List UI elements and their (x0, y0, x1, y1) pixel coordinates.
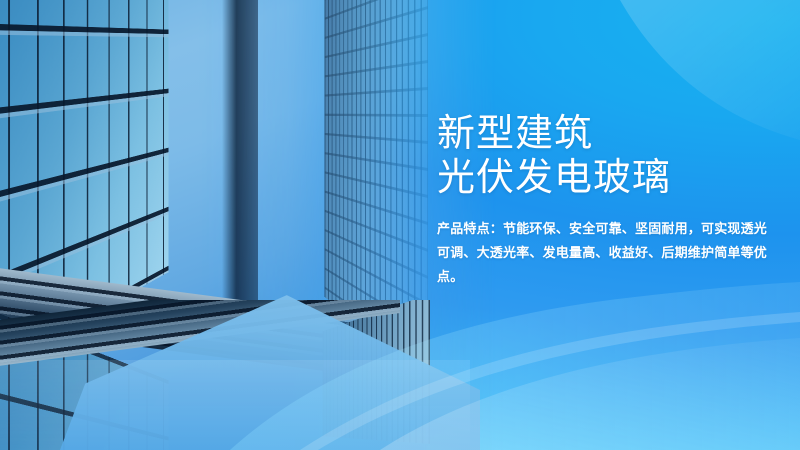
headline-line-1: 新型建筑 (437, 113, 593, 155)
product-banner: 新型建筑 光伏发电玻璃 产品特点：节能环保、安全可靠、坚固耐用，可实现透光可调、… (0, 0, 800, 450)
page-title: 新型建筑 光伏发电玻璃 (437, 112, 782, 200)
product-description: 产品特点：节能环保、安全可靠、坚固耐用，可实现透光可调、大透光率、发电量高、收益… (437, 217, 767, 289)
banner-content: 新型建筑 光伏发电玻璃 产品特点：节能环保、安全可靠、坚固耐用，可实现透光可调、… (437, 112, 782, 289)
water-gloss (0, 360, 470, 450)
facade-recess-shadow (222, 0, 258, 333)
headline-line-2: 光伏发电玻璃 (437, 156, 782, 200)
